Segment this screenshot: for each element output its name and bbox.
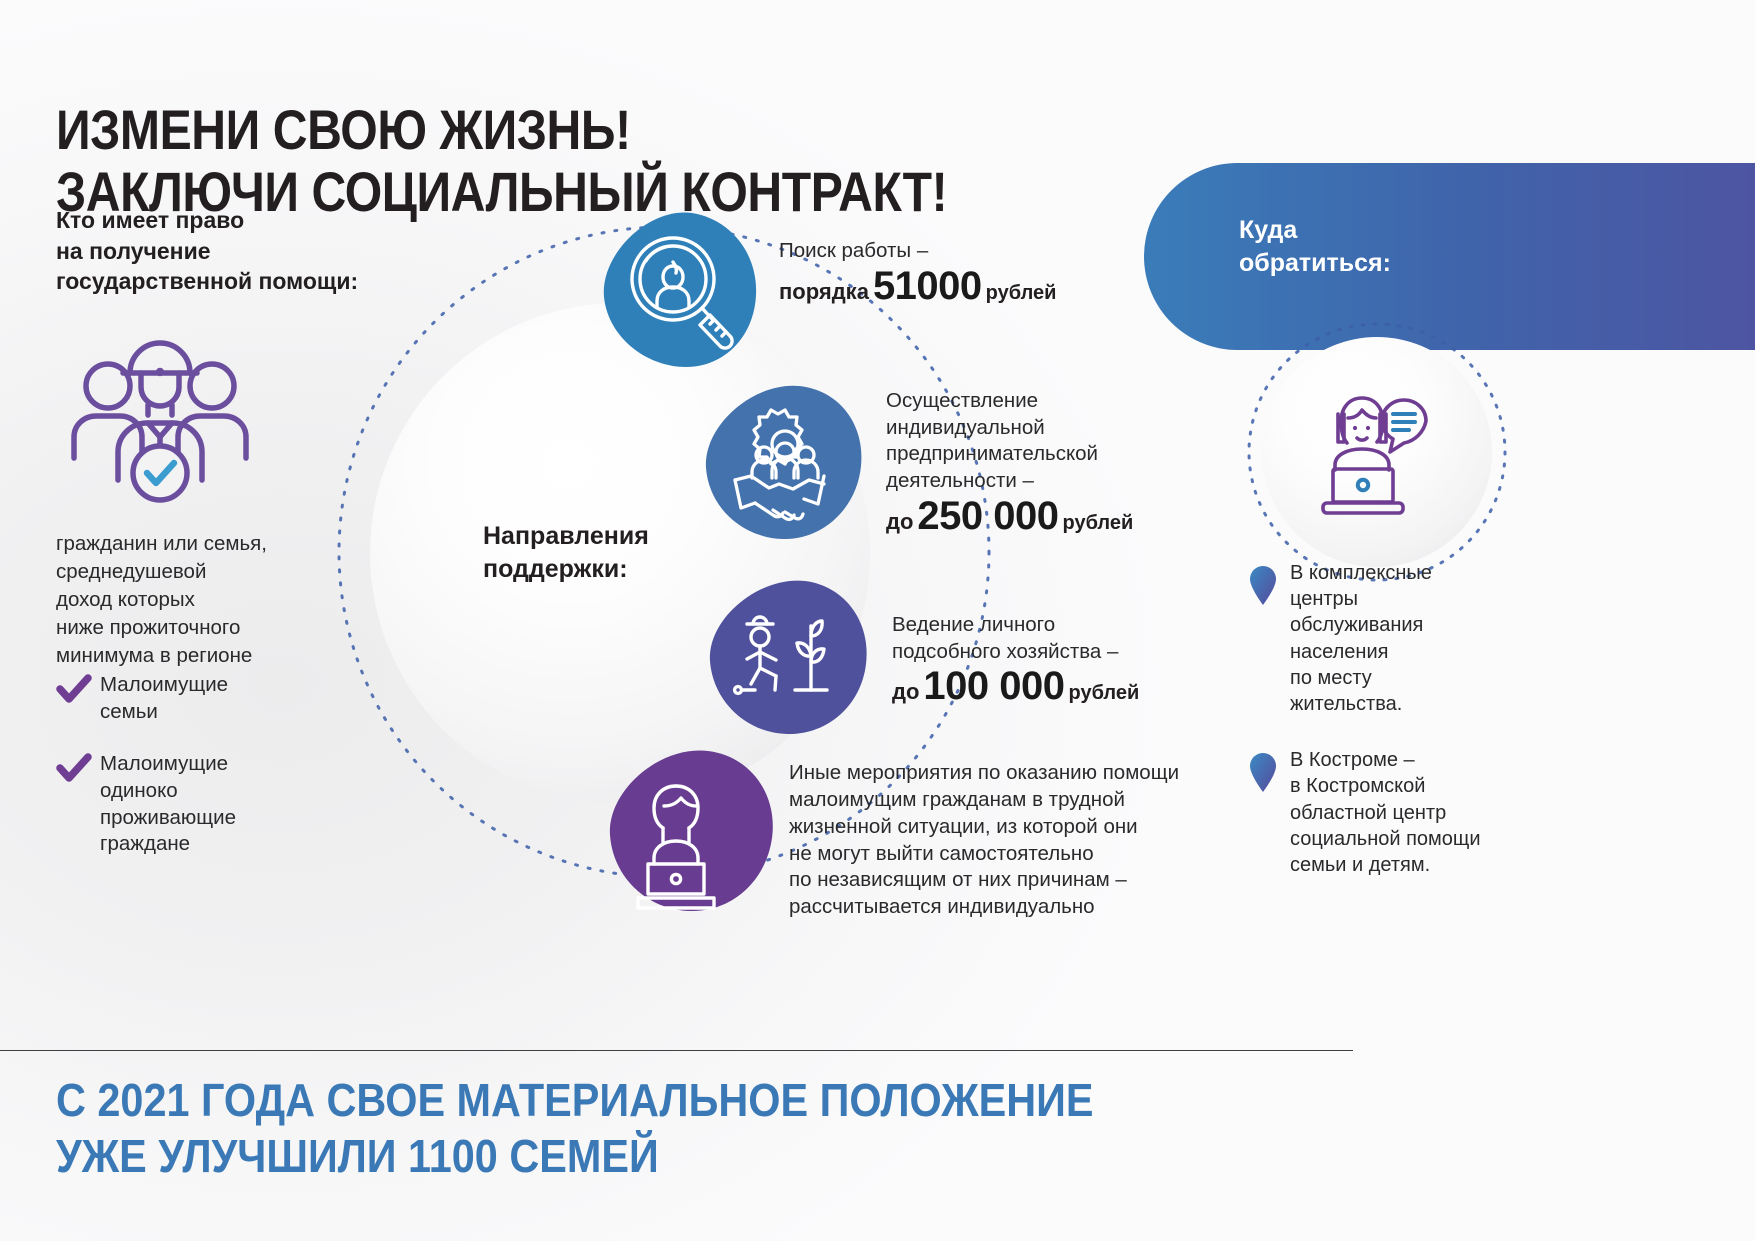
direction-blob-other-measures[interactable] (608, 748, 778, 913)
eligibility-check-list: Малоимущие семьи Малоимущие одиноко прож… (56, 672, 356, 884)
where-to-apply-list: В комплексные центры обслуживания населе… (1248, 560, 1678, 908)
direction-amount: порядка51000рублей (779, 266, 1109, 306)
amount-prefix: до (892, 679, 919, 704)
list-item: В комплексные центры обслуживания населе… (1248, 560, 1678, 717)
direction-text-household: Ведение личного подсобного хозяйства – д… (892, 612, 1182, 706)
checkmark-icon (56, 751, 100, 788)
list-item: Малоимущие семьи (56, 672, 356, 725)
direction-amount: до100 000рублей (892, 666, 1182, 706)
direction-label: Ведение личного подсобного хозяйства – (892, 612, 1182, 665)
list-item: Малоимущие одиноко проживающие граждане (56, 751, 356, 858)
pin-item-label: В Костроме – в Костромской областной цен… (1290, 747, 1481, 878)
where-to-apply-title: Куда обратиться: (1239, 214, 1391, 280)
eligibility-description: гражданин или семья, среднедушевой доход… (56, 530, 336, 669)
operator-headset-laptop-icon (1305, 370, 1455, 520)
amount-prefix: порядка (779, 279, 869, 304)
pin-item-label: В комплексные центры обслуживания населе… (1290, 560, 1432, 717)
direction-blob-job-search[interactable] (600, 209, 760, 369)
direction-label: Поиск работы – (779, 238, 1109, 265)
amount-currency: рублей (1063, 512, 1134, 534)
amount-prefix: до (886, 509, 913, 534)
check-item-label: Малоимущие одиноко проживающие граждане (100, 751, 236, 858)
direction-text-other-measures: Иные мероприятия по оказанию помощи мало… (789, 760, 1249, 921)
page-title-line1: ИЗМЕНИ СВОЮ ЖИЗНЬ! (56, 98, 631, 161)
amount-value: 250 000 (913, 494, 1062, 538)
direction-amount: до250 000рублей (886, 496, 1156, 536)
check-item-label: Малоимущие семьи (100, 672, 228, 725)
amount-value: 100 000 (919, 664, 1068, 708)
infographic-canvas: ИЗМЕНИ СВОЮ ЖИЗНЬ! ЗАКЛЮЧИ СОЦИАЛЬНЫЙ КО… (0, 0, 1755, 1241)
amount-currency: рублей (986, 282, 1057, 304)
eligibility-heading: Кто имеет право на получение государстве… (56, 205, 358, 297)
family-group-icon (60, 325, 260, 505)
direction-text-job-search: Поиск работы – порядка51000рублей (779, 238, 1109, 306)
direction-label: Иные мероприятия по оказанию помощи мало… (789, 760, 1249, 921)
amount-value: 51000 (869, 264, 986, 308)
direction-blob-household[interactable] (707, 578, 871, 736)
direction-label: Осуществление индивидуальной предпринима… (886, 388, 1156, 495)
list-item: В Костроме – в Костромской областной цен… (1248, 747, 1678, 878)
direction-text-entrepreneurship: Осуществление индивидуальной предпринима… (886, 388, 1156, 536)
footer-statistic: С 2021 ГОДА СВОЕ МАТЕРИАЛЬНОЕ ПОЛОЖЕНИЕ … (56, 1072, 1094, 1184)
direction-blob-entrepreneurship[interactable] (703, 384, 865, 540)
footer-divider (0, 1050, 1353, 1051)
amount-currency: рублей (1069, 682, 1140, 704)
map-pin-icon (1248, 560, 1290, 611)
map-pin-icon (1248, 747, 1290, 798)
checkmark-icon (56, 672, 100, 709)
